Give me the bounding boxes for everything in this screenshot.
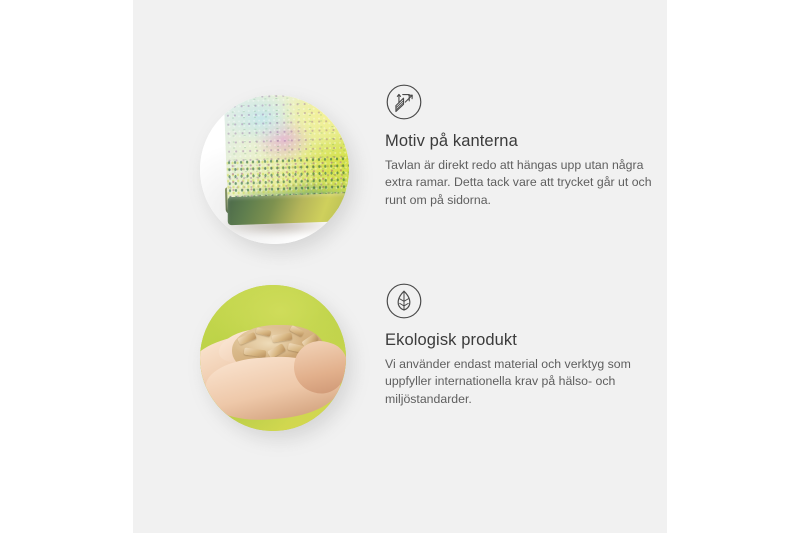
hands-holding-wood-chips-photo: [200, 285, 346, 431]
feature-text-group: Ekologisk produkt Vi använder endast mat…: [385, 282, 667, 408]
feature-title: Motiv på kanterna: [385, 132, 667, 152]
eco-photo-stage: [200, 285, 346, 431]
canvas-print-object: [224, 95, 349, 231]
content-panel: Motiv på kanterna Tavlan är direkt redo …: [133, 0, 667, 533]
leaf-icon: [385, 282, 423, 320]
canvas-photo-stage: [200, 95, 349, 244]
canvas-bottom-wrapped-edge: [228, 193, 349, 226]
feature-text-group: Motiv på kanterna Tavlan är direkt redo …: [385, 83, 667, 209]
feature-block-ekologisk-produkt: Ekologisk produkt Vi använder endast mat…: [133, 272, 667, 447]
feature-block-motiv-pa-kanterna: Motiv på kanterna Tavlan är direkt redo …: [133, 83, 667, 258]
feature-description: Tavlan är direkt redo att hängas upp uta…: [385, 157, 653, 209]
feature-description: Vi använder endast material och verktyg …: [385, 356, 653, 408]
product-feature-infographic: Motiv på kanterna Tavlan är direkt redo …: [0, 0, 800, 533]
canvas-wrapped-edges-icon: [385, 83, 423, 121]
feature-title: Ekologisk produkt: [385, 331, 667, 351]
canvas-print-corner-photo: [200, 95, 349, 244]
